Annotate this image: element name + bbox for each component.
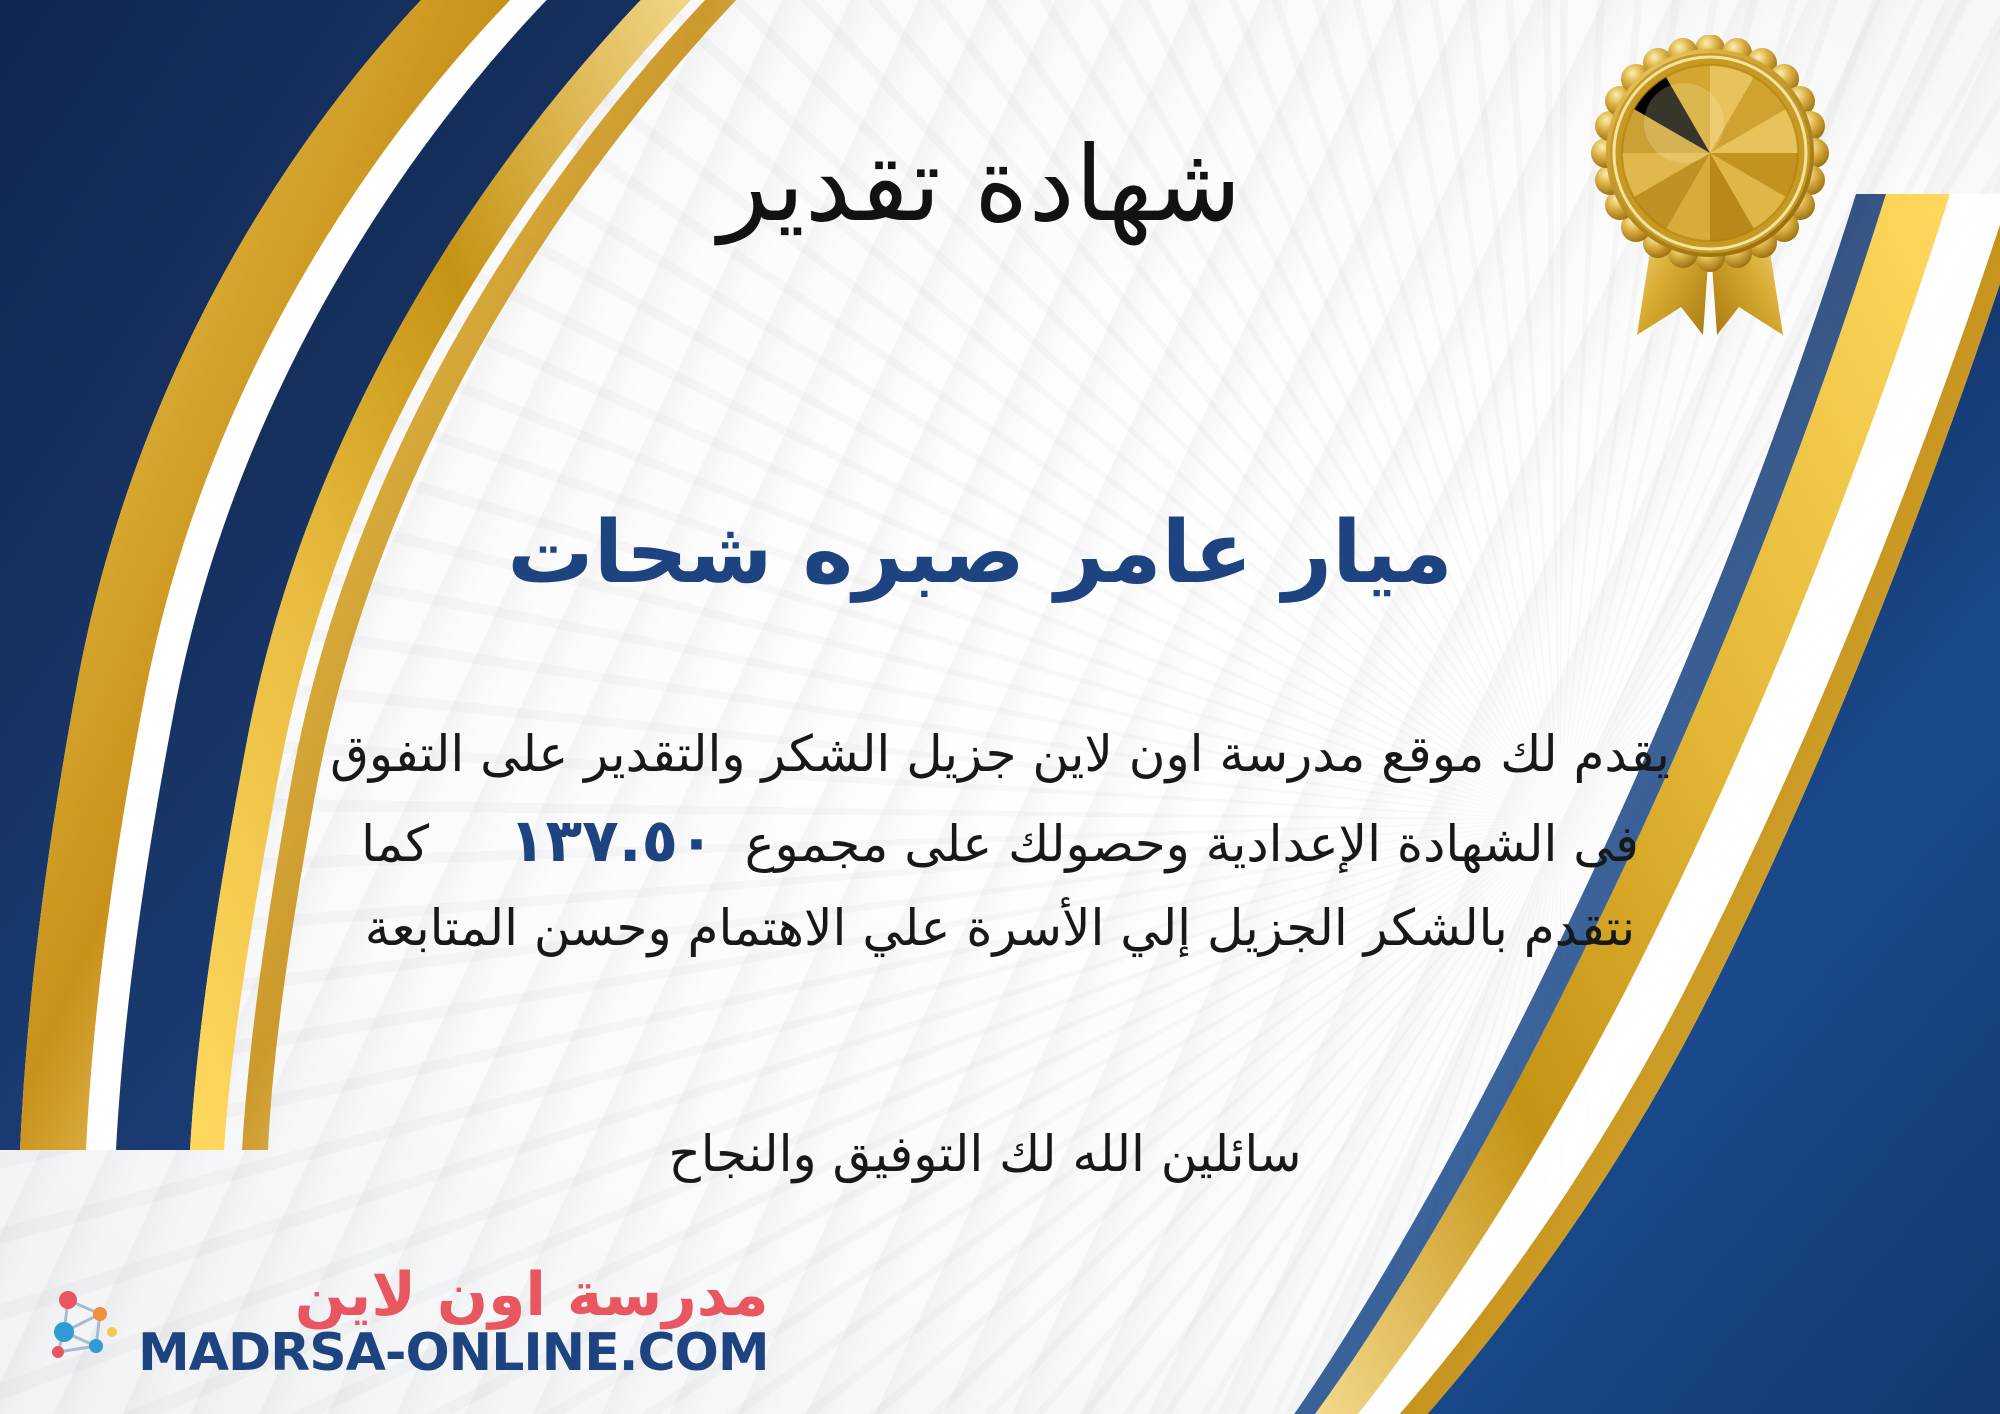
brand-arabic-name: مدرسة اون لاين bbox=[295, 1265, 769, 1325]
molecule-network-icon bbox=[38, 1280, 124, 1366]
closing-line: سائلين الله لك التوفيق والنجاح bbox=[0, 1125, 2000, 1183]
brand-logo-text: مدرسة اون لاين MADRSA-ONLINE.COM bbox=[138, 1265, 769, 1382]
brand-website-url: MADRSA-ONLINE.COM bbox=[138, 1325, 769, 1382]
certificate-body: يقدم لك موقع مدرسة اون لاين جزيل الشكر و… bbox=[60, 715, 1940, 968]
body-line-2-prefix: فى الشهادة الإعدادية وحصولك على مجموع bbox=[745, 815, 1639, 873]
total-score-value: ١٣٧.٥٠ bbox=[495, 806, 729, 876]
body-line-3: نتقدم بالشكر الجزيل إلي الأسرة علي الاهت… bbox=[60, 889, 1940, 968]
certificate-title: شهادة تقدير bbox=[0, 128, 2000, 240]
body-line-1: يقدم لك موقع مدرسة اون لاين جزيل الشكر و… bbox=[60, 715, 1940, 794]
recipient-name: ميار عامر صبره شحات bbox=[0, 505, 2000, 601]
certificate-canvas: شهادة تقدير ميار عامر صبره شحات يقدم لك … bbox=[0, 0, 2000, 1414]
body-line-2: فى الشهادة الإعدادية وحصولك على مجموع ١٣… bbox=[60, 794, 1940, 889]
body-line-2-suffix: كما bbox=[361, 815, 429, 873]
brand-logo[interactable]: مدرسة اون لاين MADRSA-ONLINE.COM bbox=[38, 1265, 769, 1382]
